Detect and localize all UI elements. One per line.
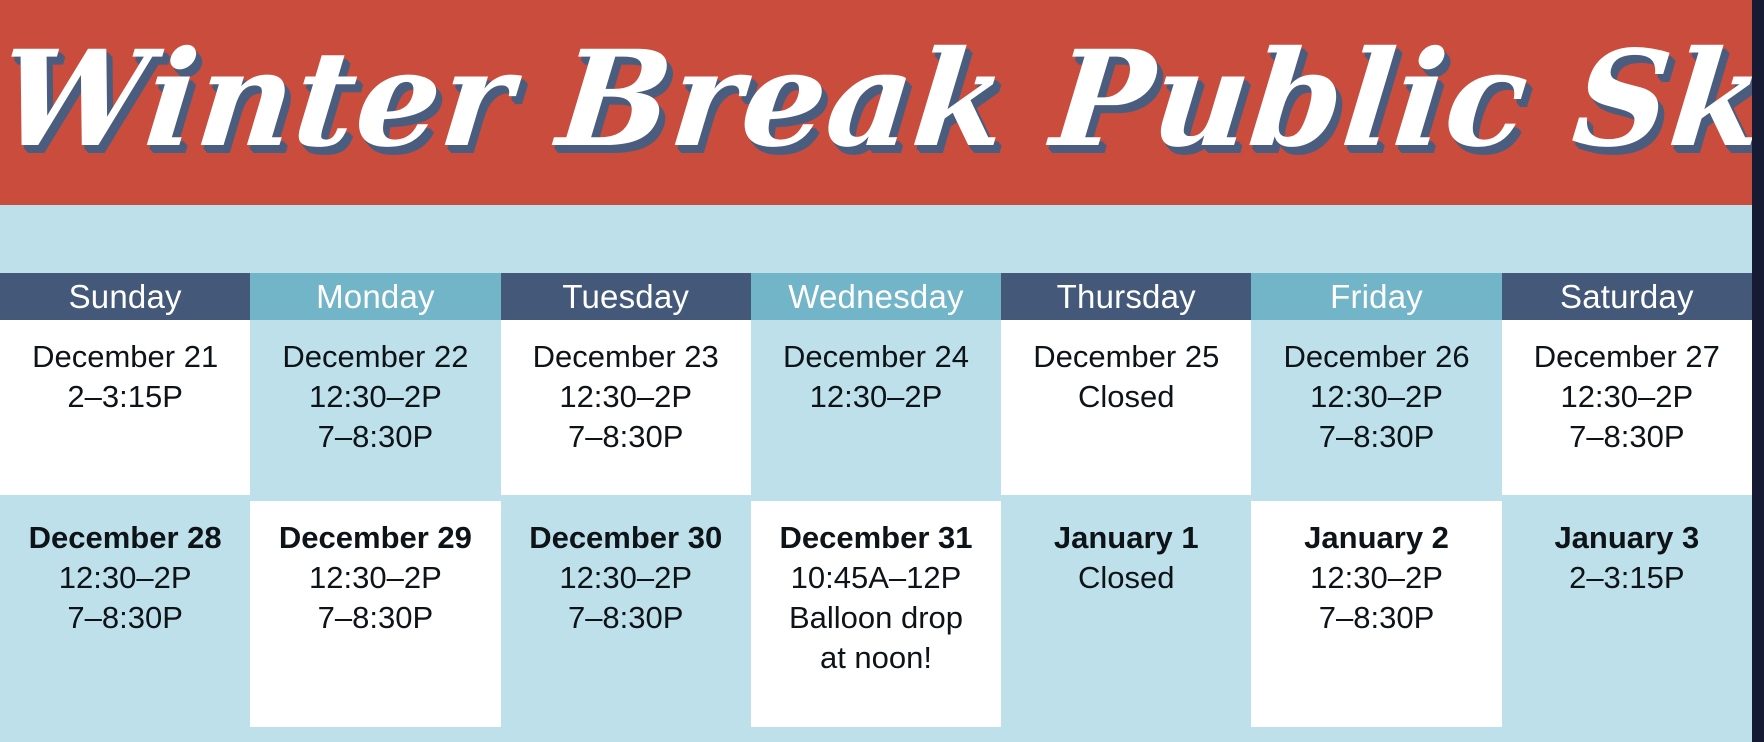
calendar-day-cell: December 2612:30–2P7–8:30P bbox=[1251, 320, 1501, 495]
calendar-day-time: 7–8:30P bbox=[250, 598, 500, 638]
calendar-day-time: 7–8:30P bbox=[250, 417, 500, 457]
calendar-day-date: December 23 bbox=[501, 337, 751, 377]
calendar-day-time: 12:30–2P bbox=[250, 558, 500, 598]
calendar-header-label: Sunday bbox=[69, 278, 182, 316]
banner-spacer bbox=[0, 205, 1752, 273]
calendar-day-time: 7–8:30P bbox=[501, 417, 751, 457]
calendar-header-label: Thursday bbox=[1057, 278, 1196, 316]
calendar-day-time: 7–8:30P bbox=[0, 598, 250, 638]
calendar-day-cell: December 3110:45A–12PBalloon dropat noon… bbox=[751, 501, 1001, 727]
calendar-day-time: 12:30–2P bbox=[0, 558, 250, 598]
calendar-day-time: 12:30–2P bbox=[501, 377, 751, 417]
calendar-day-date: January 2 bbox=[1251, 518, 1501, 558]
page-title: Winter Break Public Skate bbox=[0, 10, 1752, 190]
calendar-day-time: 7–8:30P bbox=[1251, 598, 1501, 638]
calendar-header-sunday: Sunday bbox=[0, 273, 250, 320]
calendar-week-row-2: December 2812:30–2P7–8:30PDecember 2912:… bbox=[0, 501, 1752, 727]
calendar-day-time: 2–3:15P bbox=[1502, 558, 1752, 598]
calendar-day-cell: December 2412:30–2P bbox=[751, 320, 1001, 495]
calendar-day-cell: December 2312:30–2P7–8:30P bbox=[501, 320, 751, 495]
calendar-week-row-1: December 212–3:15PDecember 2212:30–2P7–8… bbox=[0, 320, 1752, 495]
calendar-day-cell: December 2912:30–2P7–8:30P bbox=[250, 501, 500, 727]
calendar-day-time: Balloon drop bbox=[751, 598, 1001, 638]
calendar-header-saturday: Saturday bbox=[1502, 273, 1752, 320]
calendar-day-cell: December 212–3:15P bbox=[0, 320, 250, 495]
calendar-header-label: Saturday bbox=[1560, 278, 1694, 316]
calendar-day-cell: December 2212:30–2P7–8:30P bbox=[250, 320, 500, 495]
calendar-day-cell: December 25Closed bbox=[1001, 320, 1251, 495]
calendar-day-date: January 3 bbox=[1502, 518, 1752, 558]
calendar-header-label: Friday bbox=[1330, 278, 1423, 316]
calendar-day-time: 12:30–2P bbox=[1502, 377, 1752, 417]
calendar-day-time: 12:30–2P bbox=[1251, 558, 1501, 598]
calendar-day-time: 12:30–2P bbox=[501, 558, 751, 598]
calendar-header-label: Wednesday bbox=[788, 278, 963, 316]
calendar-day-date: January 1 bbox=[1001, 518, 1251, 558]
calendar-day-date: December 29 bbox=[250, 518, 500, 558]
calendar-header-friday: Friday bbox=[1251, 273, 1501, 320]
calendar-day-date: December 25 bbox=[1001, 337, 1251, 377]
calendar-header-wednesday: Wednesday bbox=[751, 273, 1001, 320]
calendar-day-time: Closed bbox=[1001, 377, 1251, 417]
calendar-day-cell: December 3012:30–2P7–8:30P bbox=[501, 501, 751, 727]
calendar-header-label: Tuesday bbox=[562, 278, 689, 316]
calendar-day-time: 2–3:15P bbox=[0, 377, 250, 417]
calendar-header-row: SundayMondayTuesdayWednesdayThursdayFrid… bbox=[0, 273, 1752, 320]
calendar-day-date: December 26 bbox=[1251, 337, 1501, 377]
calendar-day-time: at noon! bbox=[751, 638, 1001, 678]
calendar-day-cell: January 1Closed bbox=[1001, 501, 1251, 727]
calendar-day-time: 10:45A–12P bbox=[751, 558, 1001, 598]
calendar-day-date: December 31 bbox=[751, 518, 1001, 558]
calendar-day-cell: December 2712:30–2P7–8:30P bbox=[1502, 320, 1752, 495]
calendar-day-date: December 28 bbox=[0, 518, 250, 558]
calendar-day-time: 7–8:30P bbox=[1502, 417, 1752, 457]
calendar-day-time: 12:30–2P bbox=[250, 377, 500, 417]
skate-schedule-calendar: SundayMondayTuesdayWednesdayThursdayFrid… bbox=[0, 205, 1752, 742]
calendar-day-cell: December 2812:30–2P7–8:30P bbox=[0, 501, 250, 727]
calendar-day-time: 7–8:30P bbox=[501, 598, 751, 638]
calendar-day-date: December 30 bbox=[501, 518, 751, 558]
calendar-day-time: Closed bbox=[1001, 558, 1251, 598]
calendar-header-thursday: Thursday bbox=[1001, 273, 1251, 320]
calendar-day-time: 12:30–2P bbox=[1251, 377, 1501, 417]
calendar-day-date: December 21 bbox=[0, 337, 250, 377]
calendar-day-time: 12:30–2P bbox=[751, 377, 1001, 417]
calendar-day-time: 7–8:30P bbox=[1251, 417, 1501, 457]
calendar-day-date: December 27 bbox=[1502, 337, 1752, 377]
calendar-header-monday: Monday bbox=[250, 273, 500, 320]
calendar-day-date: December 24 bbox=[751, 337, 1001, 377]
calendar-header-tuesday: Tuesday bbox=[501, 273, 751, 320]
title-banner: Winter Break Public Skate bbox=[0, 0, 1752, 205]
calendar-day-cell: January 212:30–2P7–8:30P bbox=[1251, 501, 1501, 727]
calendar-header-label: Monday bbox=[316, 278, 435, 316]
calendar-day-cell: January 32–3:15P bbox=[1502, 501, 1752, 727]
calendar-day-date: December 22 bbox=[250, 337, 500, 377]
right-edge-strip bbox=[1752, 0, 1764, 742]
